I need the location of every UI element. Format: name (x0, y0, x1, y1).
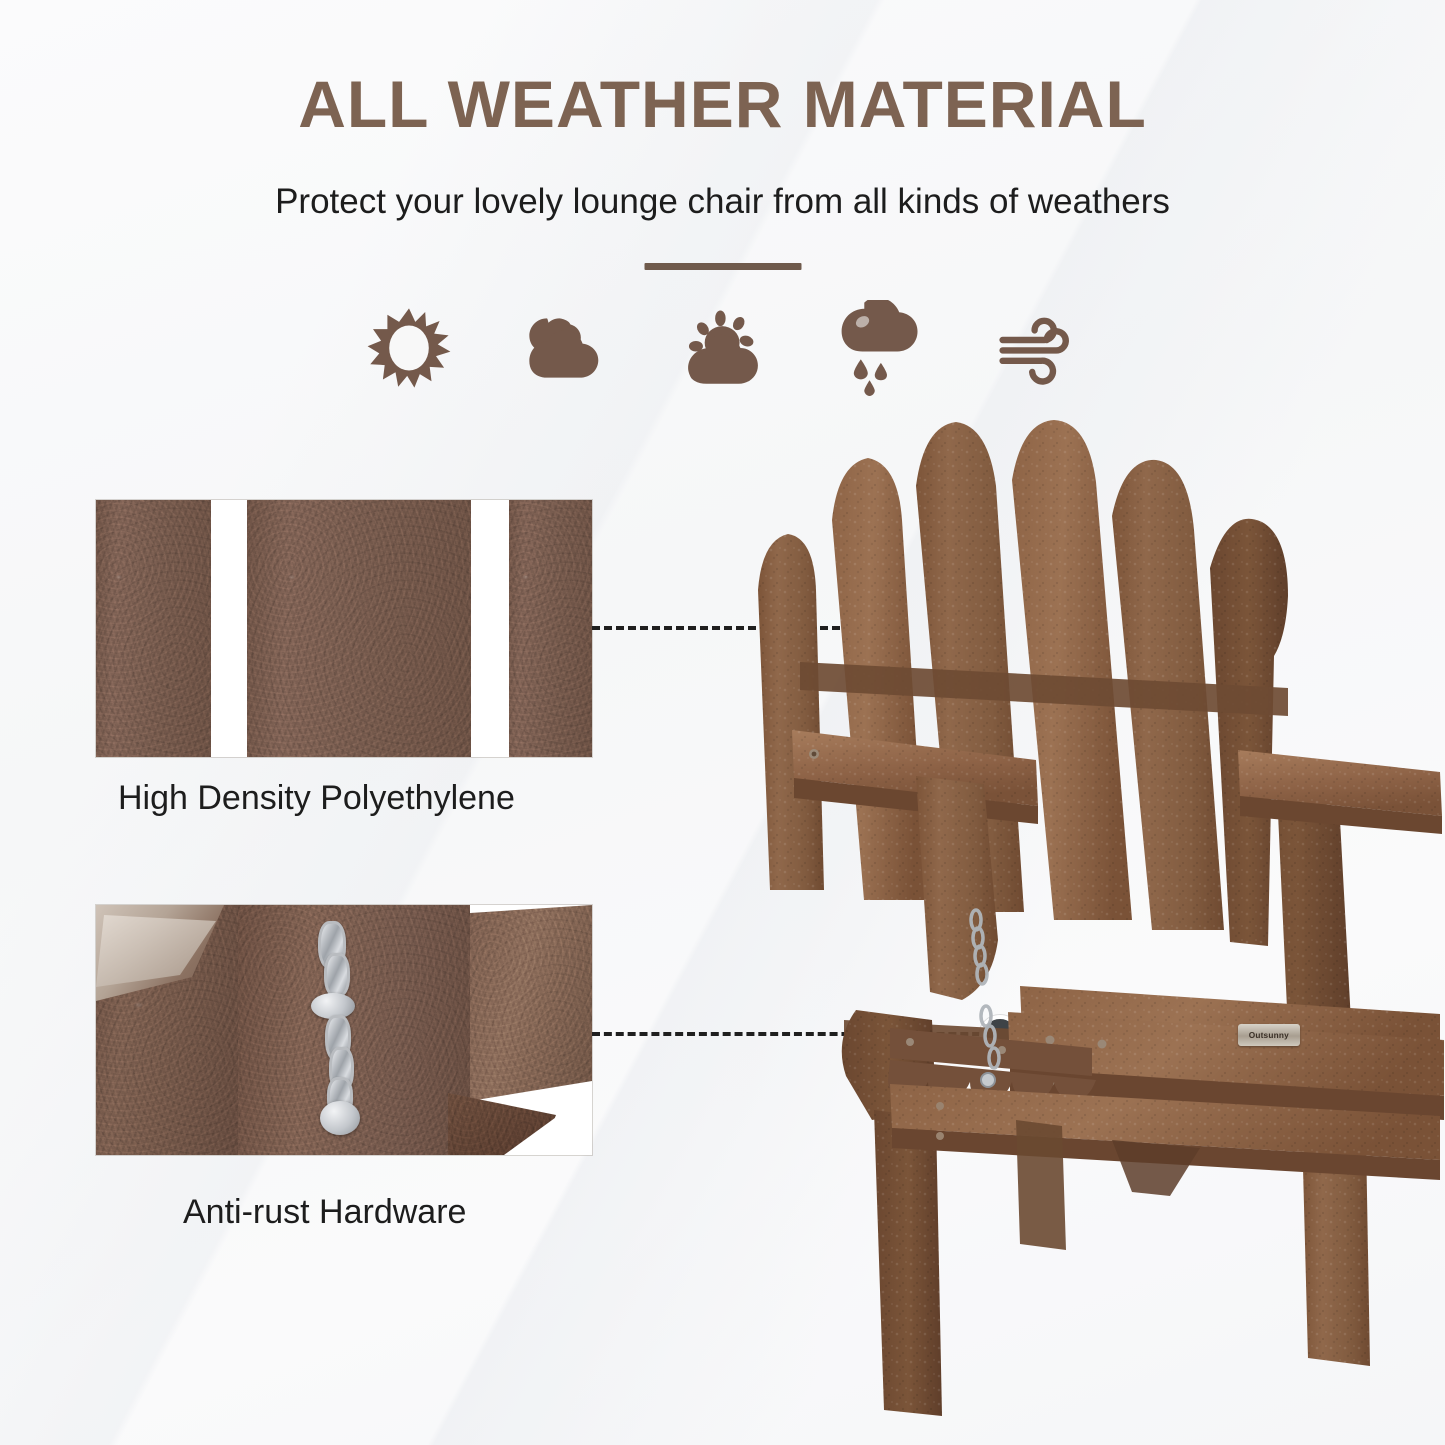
page-title: ALL WEATHER MATERIAL (0, 70, 1445, 139)
cloudy-icon (518, 300, 614, 396)
hdpe-slat-texture-photo (96, 500, 592, 757)
page-subtitle: Protect your lovely lounge chair from al… (0, 182, 1445, 222)
brand-badge: Outsunny (1238, 1024, 1300, 1046)
rain-icon (832, 300, 928, 396)
wind-icon (989, 300, 1085, 396)
feature-caption-hardware: Anti-rust Hardware (183, 1193, 466, 1232)
chain-hardware-photo (96, 905, 592, 1155)
brand-badge-label: Outsunny (1249, 1030, 1289, 1039)
title-divider (644, 263, 801, 270)
adirondack-chair-photo (740, 420, 1445, 1420)
sun-icon (361, 300, 457, 396)
feature-caption-hdpe: High Density Polyethylene (118, 779, 515, 818)
weather-icon-row (0, 300, 1445, 396)
infographic-canvas: ALL WEATHER MATERIAL Protect your lovely… (0, 0, 1445, 1445)
partly-cloudy-icon (675, 300, 771, 396)
